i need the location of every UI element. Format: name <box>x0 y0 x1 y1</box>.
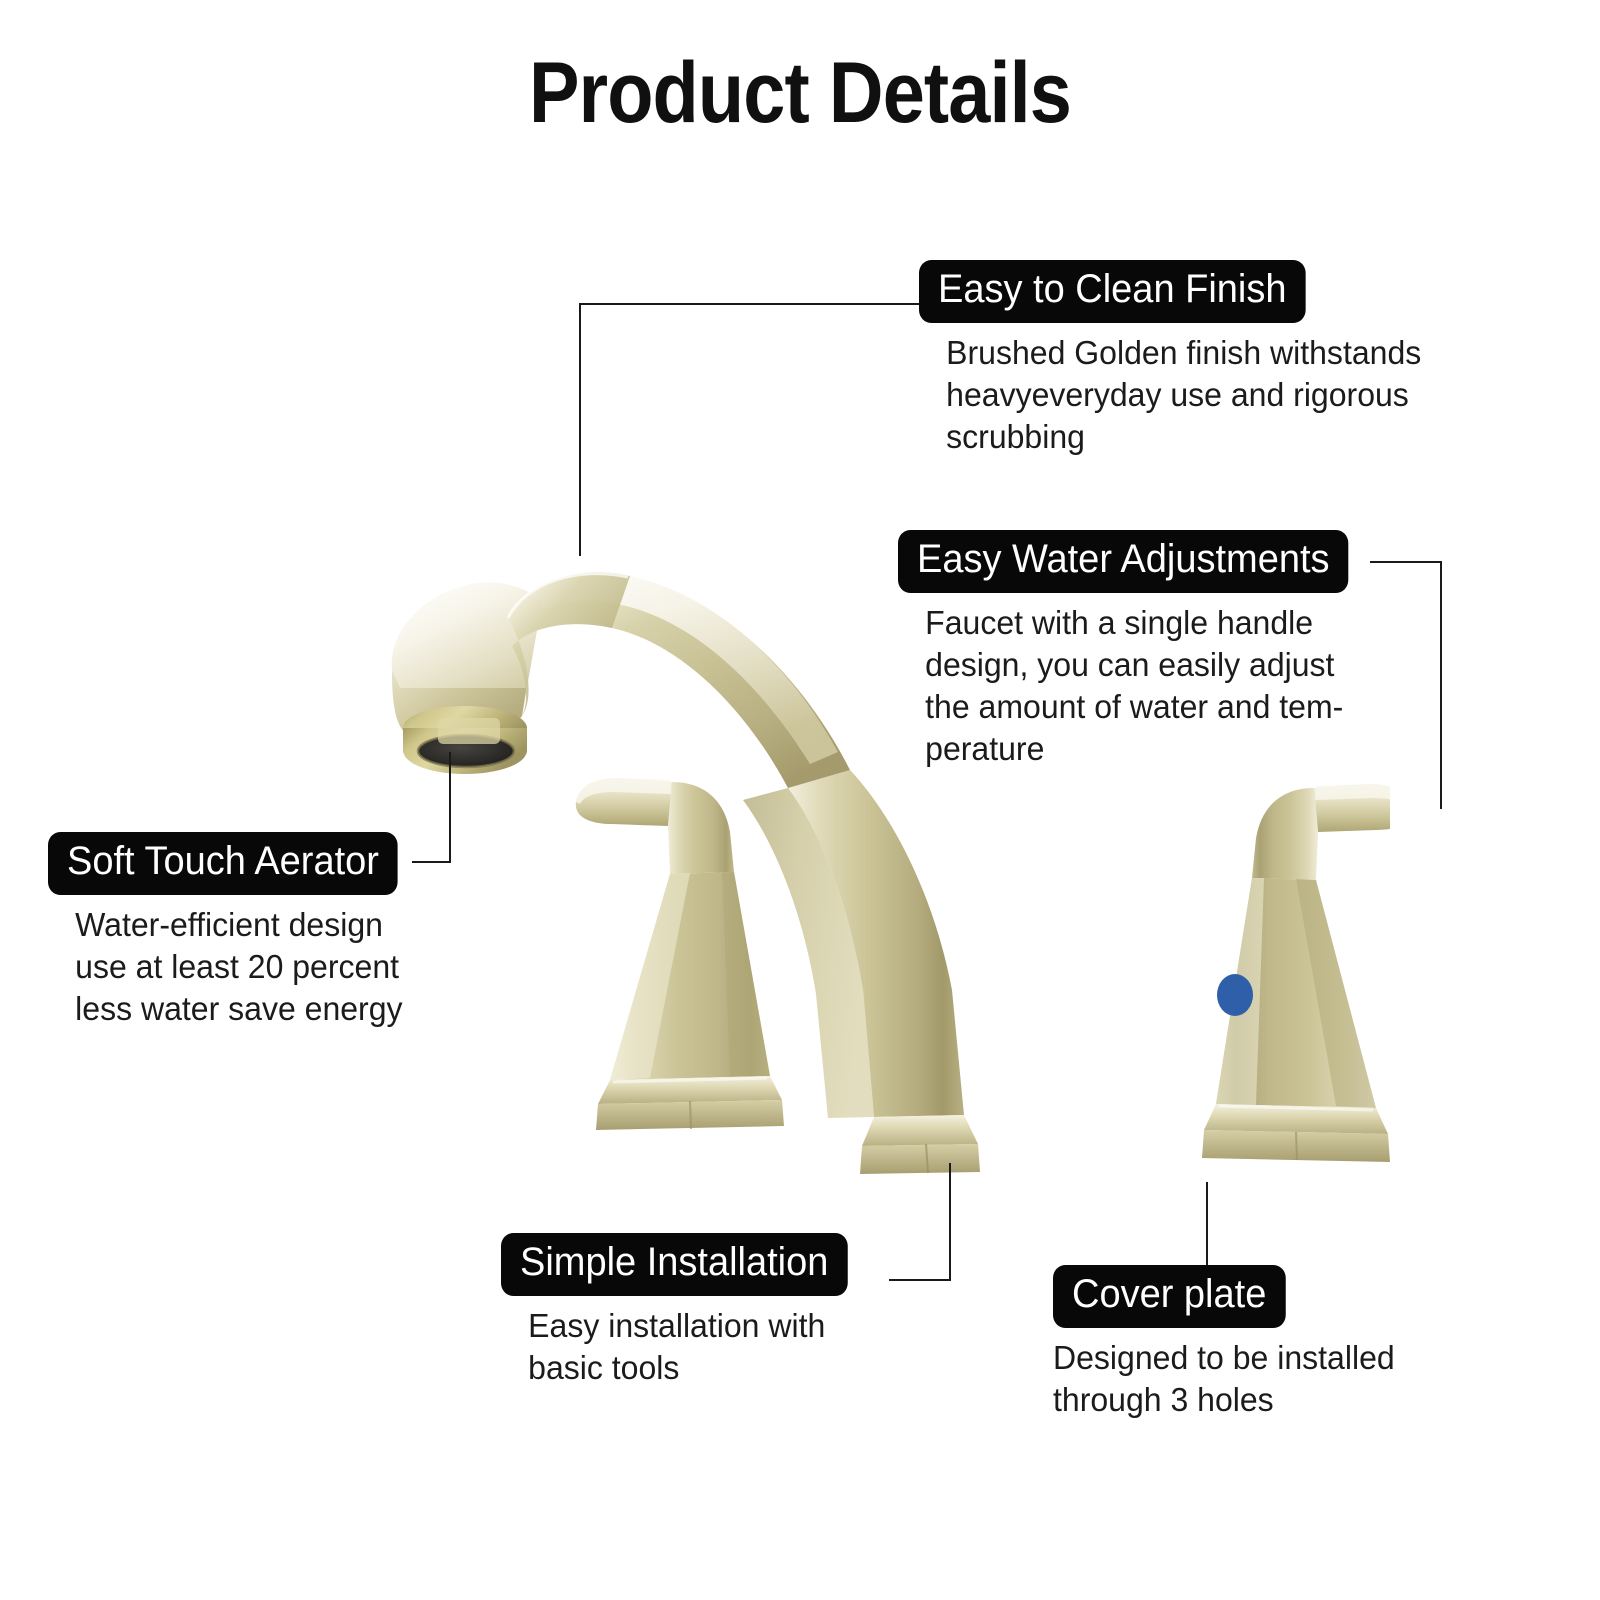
connector-water-adjust-horizontal <box>1370 561 1442 563</box>
connector-simple-install-horizontal <box>889 1279 951 1281</box>
callout-label-simple-installation[interactable]: Simple Installation <box>501 1233 847 1296</box>
left-handle-shoulder <box>668 782 734 874</box>
aerator-facet <box>438 718 500 744</box>
connector-easy-to-clean-horizontal <box>579 303 925 305</box>
callout-description-easy-water-adjustments: Faucet with a single handle design, you … <box>898 602 1358 771</box>
connector-water-adjust-vertical <box>1440 561 1442 809</box>
cold-indicator-dot <box>1217 974 1253 1016</box>
callout-label-easy-water-adjustments[interactable]: Easy Water Adjustments <box>898 530 1349 593</box>
callout-description-easy-to-clean-finish: Brushed Golden finish withstands heavyev… <box>919 332 1421 459</box>
callout-description-cover-plate: Designed to be installed through 3 holes <box>1053 1337 1395 1421</box>
callout-easy-to-clean-finish: Easy to Clean Finish Brushed Golden fini… <box>919 260 1437 458</box>
right-handle-shoulder <box>1252 788 1318 880</box>
page-title: Product Details <box>96 44 1504 143</box>
callout-soft-touch-aerator: Soft Touch Aerator Water-efficient desig… <box>48 832 416 1030</box>
callout-easy-water-adjustments: Easy Water Adjustments Faucet with a sin… <box>898 530 1372 771</box>
connector-easy-to-clean-vertical <box>579 303 581 556</box>
connector-aerator-horizontal <box>412 861 450 863</box>
callout-label-soft-touch-aerator[interactable]: Soft Touch Aerator <box>48 832 398 895</box>
connector-simple-install-vertical <box>949 1163 951 1281</box>
spout-base-plate <box>862 1115 978 1146</box>
callout-simple-installation: Simple Installation Easy installation wi… <box>501 1233 866 1389</box>
connector-aerator-vertical <box>449 752 451 863</box>
callout-description-simple-installation: Easy installation with basic tools <box>501 1305 855 1389</box>
callout-label-cover-plate[interactable]: Cover plate <box>1053 1265 1285 1328</box>
callout-description-soft-touch-aerator: Water-efficient design use at least 20 p… <box>48 904 405 1031</box>
spout-base-plate-side <box>860 1144 980 1174</box>
left-handle-base-seam <box>690 1101 691 1129</box>
left-handle-cone-facet <box>722 872 770 1077</box>
product-details-infographic: Product Details <box>0 0 1600 1600</box>
right-handle-base-seam <box>1296 1132 1297 1160</box>
callout-cover-plate: Cover plate Designed to be installed thr… <box>1053 1265 1405 1421</box>
callout-label-easy-to-clean-finish[interactable]: Easy to Clean Finish <box>919 260 1306 323</box>
connector-cover-plate-vertical <box>1206 1182 1208 1270</box>
